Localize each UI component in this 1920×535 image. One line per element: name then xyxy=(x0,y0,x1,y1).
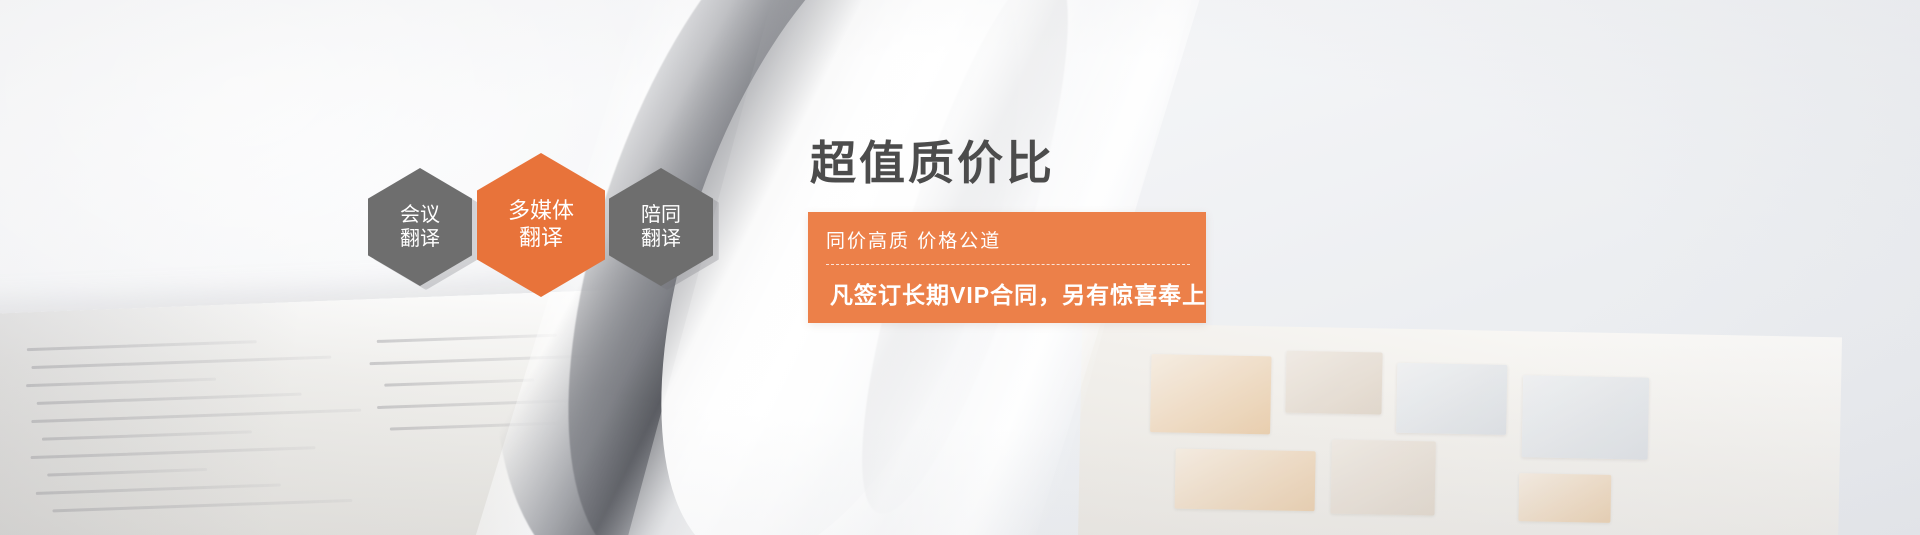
book-right-page xyxy=(1078,323,1842,535)
promo-line-2: 凡签订长期VIP合同，另有惊喜奉上 xyxy=(808,265,1206,311)
banner-copy-block: 超值质价比 同价高质 价格公道 凡签订长期VIP合同，另有惊喜奉上 xyxy=(808,140,1328,323)
promo-box: 同价高质 价格公道 凡签订长期VIP合同，另有惊喜奉上 xyxy=(808,212,1206,323)
hexagon-conference-line1: 会议 xyxy=(400,203,440,227)
hexagon-escort-line1: 陪同 xyxy=(641,203,681,227)
promo-line-1: 同价高质 价格公道 xyxy=(808,224,1206,264)
service-hexagon-group: 会议 翻译 多媒体 翻译 陪同 翻译 xyxy=(0,0,780,535)
hexagon-multimedia-translation[interactable]: 多媒体 翻译 xyxy=(477,153,605,297)
hexagon-conference-line2: 翻译 xyxy=(400,227,440,251)
banner-headline: 超值质价比 xyxy=(810,140,1328,186)
hexagon-escort-line2: 翻译 xyxy=(641,227,681,251)
hexagon-multimedia-line1: 多媒体 xyxy=(508,198,574,225)
hexagon-multimedia-line2: 翻译 xyxy=(519,225,563,252)
promo-banner: 会议 翻译 多媒体 翻译 陪同 翻译 超值质价比 同价高质 价格公道 凡签订长期… xyxy=(0,0,1920,535)
